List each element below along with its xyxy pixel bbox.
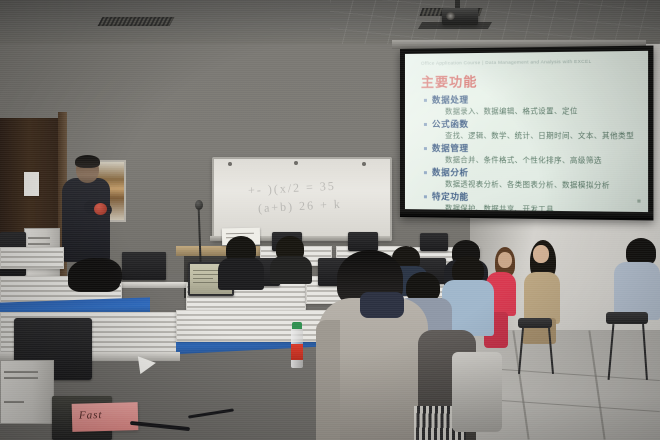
door-sign [24,172,39,196]
slide-title: 主要功能 [421,71,478,91]
desk-divider-panel [176,310,328,342]
bullet-heading: 数据处理 [423,92,640,105]
chair [518,318,552,328]
slide-header-line: Office Application Course | Data Managem… [421,58,640,69]
bottle-label [291,344,303,360]
projector-ceiling-plate [418,22,492,29]
slide-bullet-list: 数据处理 数据录入、数据编辑、格式设置、定位 公式函数 查找、逻辑、数学、统计、… [423,92,640,212]
slide-bullet: 公式函数 查找、逻辑、数学、统计、日期时间、文本、其他类型 [423,117,640,141]
slide-bullet: 数据管理 数据合并、条件格式、个性化排序、高级筛选 [423,142,640,166]
cable [130,421,190,431]
slide-bullet: 数据处理 数据录入、数据编辑、格式设置、定位 [423,92,640,116]
chair [452,352,502,432]
ceiling-vent-icon [98,17,175,26]
microphone-icon [195,200,203,210]
bullet-subtext: 数据录入、数据编辑、格式设置、定位 [423,105,640,117]
bullet-heading: 公式函数 [423,117,640,130]
bullet-heading: 数据分析 [423,166,640,180]
monitor [420,233,448,251]
projection-screen: Office Application Course | Data Managem… [400,46,653,221]
classroom-photo: +- )(x/2 = 35 (a+b) 26 + k Office Applic… [0,0,660,440]
cable [188,408,234,418]
desk-divider-panel [0,247,64,269]
monitor [122,252,166,280]
presenter-torso [62,178,110,262]
bullet-heading: 特定功能 [423,190,640,204]
cpu-tower [0,360,54,424]
presenter-hair [75,155,100,168]
pink-sticker-text: Fast [72,402,138,422]
monitor [348,232,378,251]
collar [360,292,404,318]
slide-surface: Office Application Course | Data Managem… [405,51,648,212]
bullet-subtext: 数据透视表分析、各类图表分析、数据模拟分析 [423,178,640,191]
bullet-subtext: 查找、逻辑、数学、统计、日期时间、文本、其他类型 [423,130,640,141]
bottle-cap [292,322,302,329]
paper-note [138,354,157,374]
pink-sticker-label: Fast [72,402,139,432]
bullet-subtext: 数据合并、条件格式、个性化排序、高级筛选 [423,154,640,166]
slide-bullet: 数据分析 数据透视表分析、各类图表分析、数据模拟分析 [423,166,640,191]
projector-lens-icon [446,12,455,20]
presenter-shirt-logo [94,203,107,215]
foreground-arm [316,320,340,440]
bullet-heading: 数据管理 [423,142,640,155]
chair [606,312,648,324]
slide-page-marker [637,199,640,202]
